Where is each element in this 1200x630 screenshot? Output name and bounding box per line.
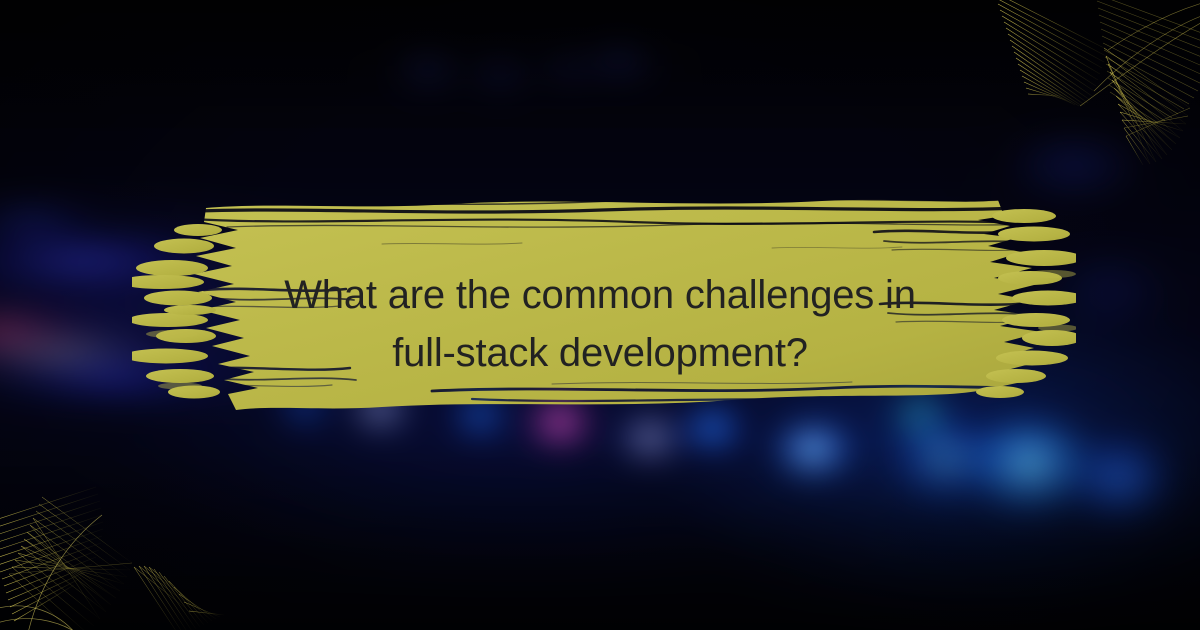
banner-stage: What are the common challenges in full-s… [0,0,1200,630]
page-title: What are the common challenges in full-s… [150,266,1050,382]
